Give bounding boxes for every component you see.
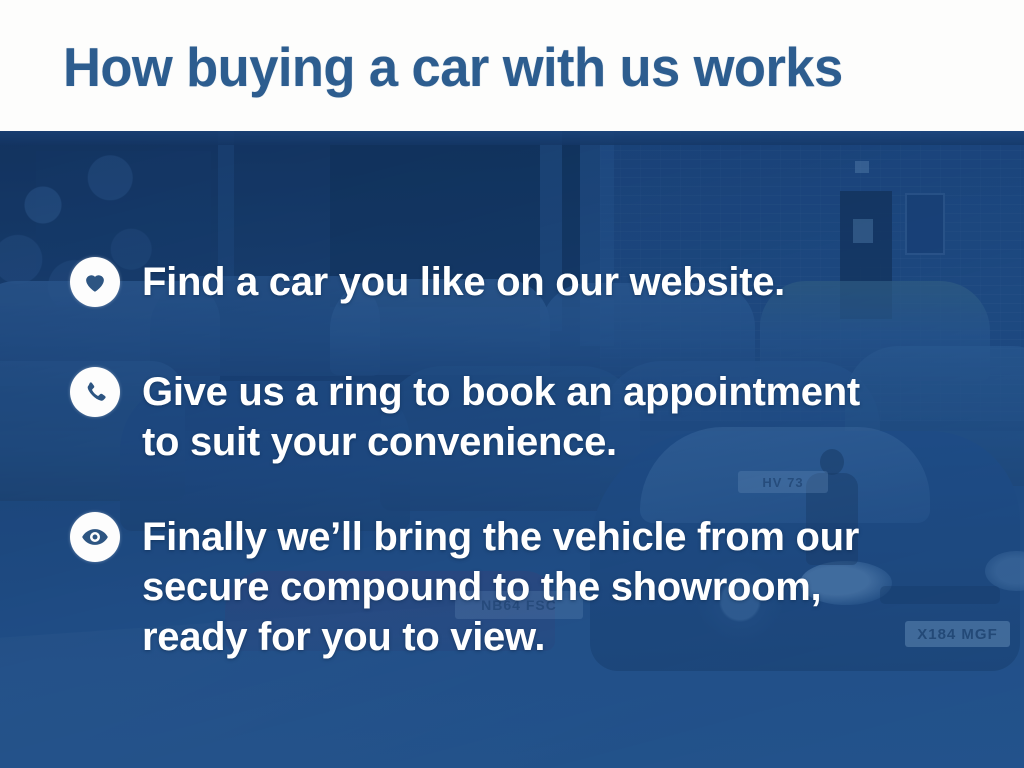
eye-icon — [70, 512, 120, 562]
slide-root: X184 MGF HV 73 NB64 FSC How buying a car… — [0, 0, 1024, 768]
list-item: Find a car you like on our website. — [70, 257, 785, 307]
steps-list: Find a car you like on our website. Give… — [0, 131, 1024, 768]
header-band: How buying a car with us works — [0, 0, 1024, 131]
list-item: Finally we’ll bring the vehicle from our… — [70, 512, 859, 662]
heart-icon — [70, 257, 120, 307]
list-item-label: Finally we’ll bring the vehicle from our… — [142, 512, 859, 662]
list-item-label: Give us a ring to book an appointment to… — [142, 367, 860, 467]
list-item: Give us a ring to book an appointment to… — [70, 367, 860, 467]
page-title: How buying a car with us works — [63, 36, 843, 98]
phone-icon — [70, 367, 120, 417]
list-item-label: Find a car you like on our website. — [142, 257, 785, 307]
